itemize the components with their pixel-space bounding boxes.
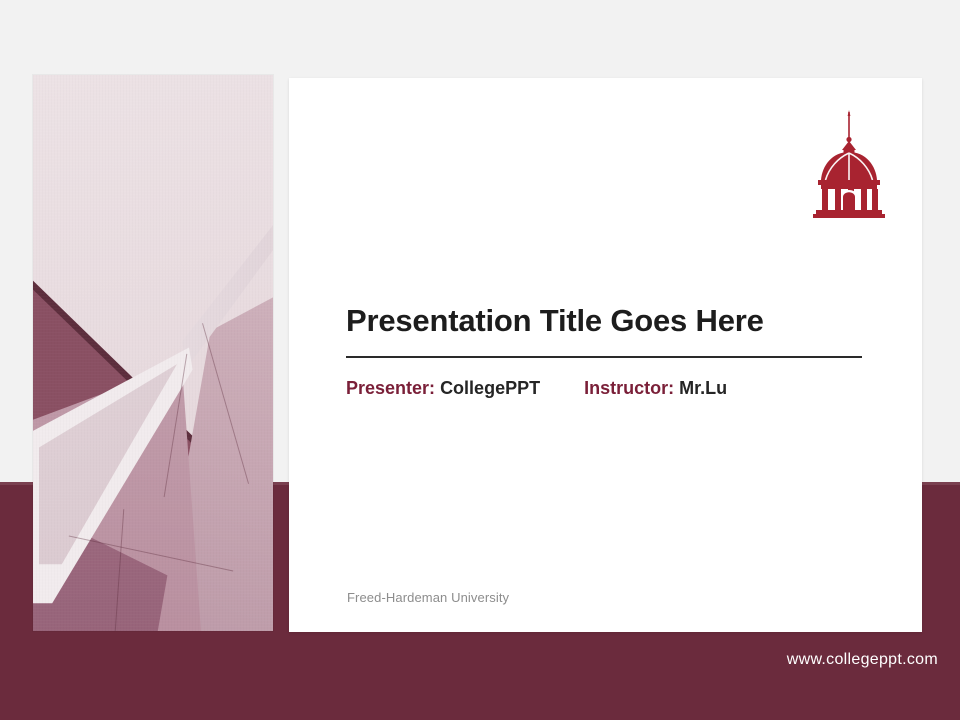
page-title: Presentation Title Goes Here [346, 303, 866, 339]
organization-name: Freed-Hardeman University [347, 590, 509, 605]
slide-card: Presentation Title Goes Here Presenter: … [289, 78, 922, 632]
instructor-label: Instructor: [584, 378, 674, 398]
title-block: Presentation Title Goes Here Presenter: … [346, 303, 866, 399]
university-dome-logo-icon [812, 110, 886, 218]
byline: Presenter: CollegePPT Instructor: Mr.Lu [346, 378, 866, 399]
title-divider [346, 356, 862, 358]
instructor-name: Mr.Lu [679, 378, 727, 398]
presenter-name: CollegePPT [440, 378, 540, 398]
abstract-architecture-photo [33, 75, 273, 631]
presenter-label: Presenter: [346, 378, 435, 398]
footer-website-url: www.collegeppt.com [787, 651, 938, 669]
photo-grain-overlay [33, 75, 273, 631]
slide-canvas: Presentation Title Goes Here Presenter: … [0, 0, 960, 720]
